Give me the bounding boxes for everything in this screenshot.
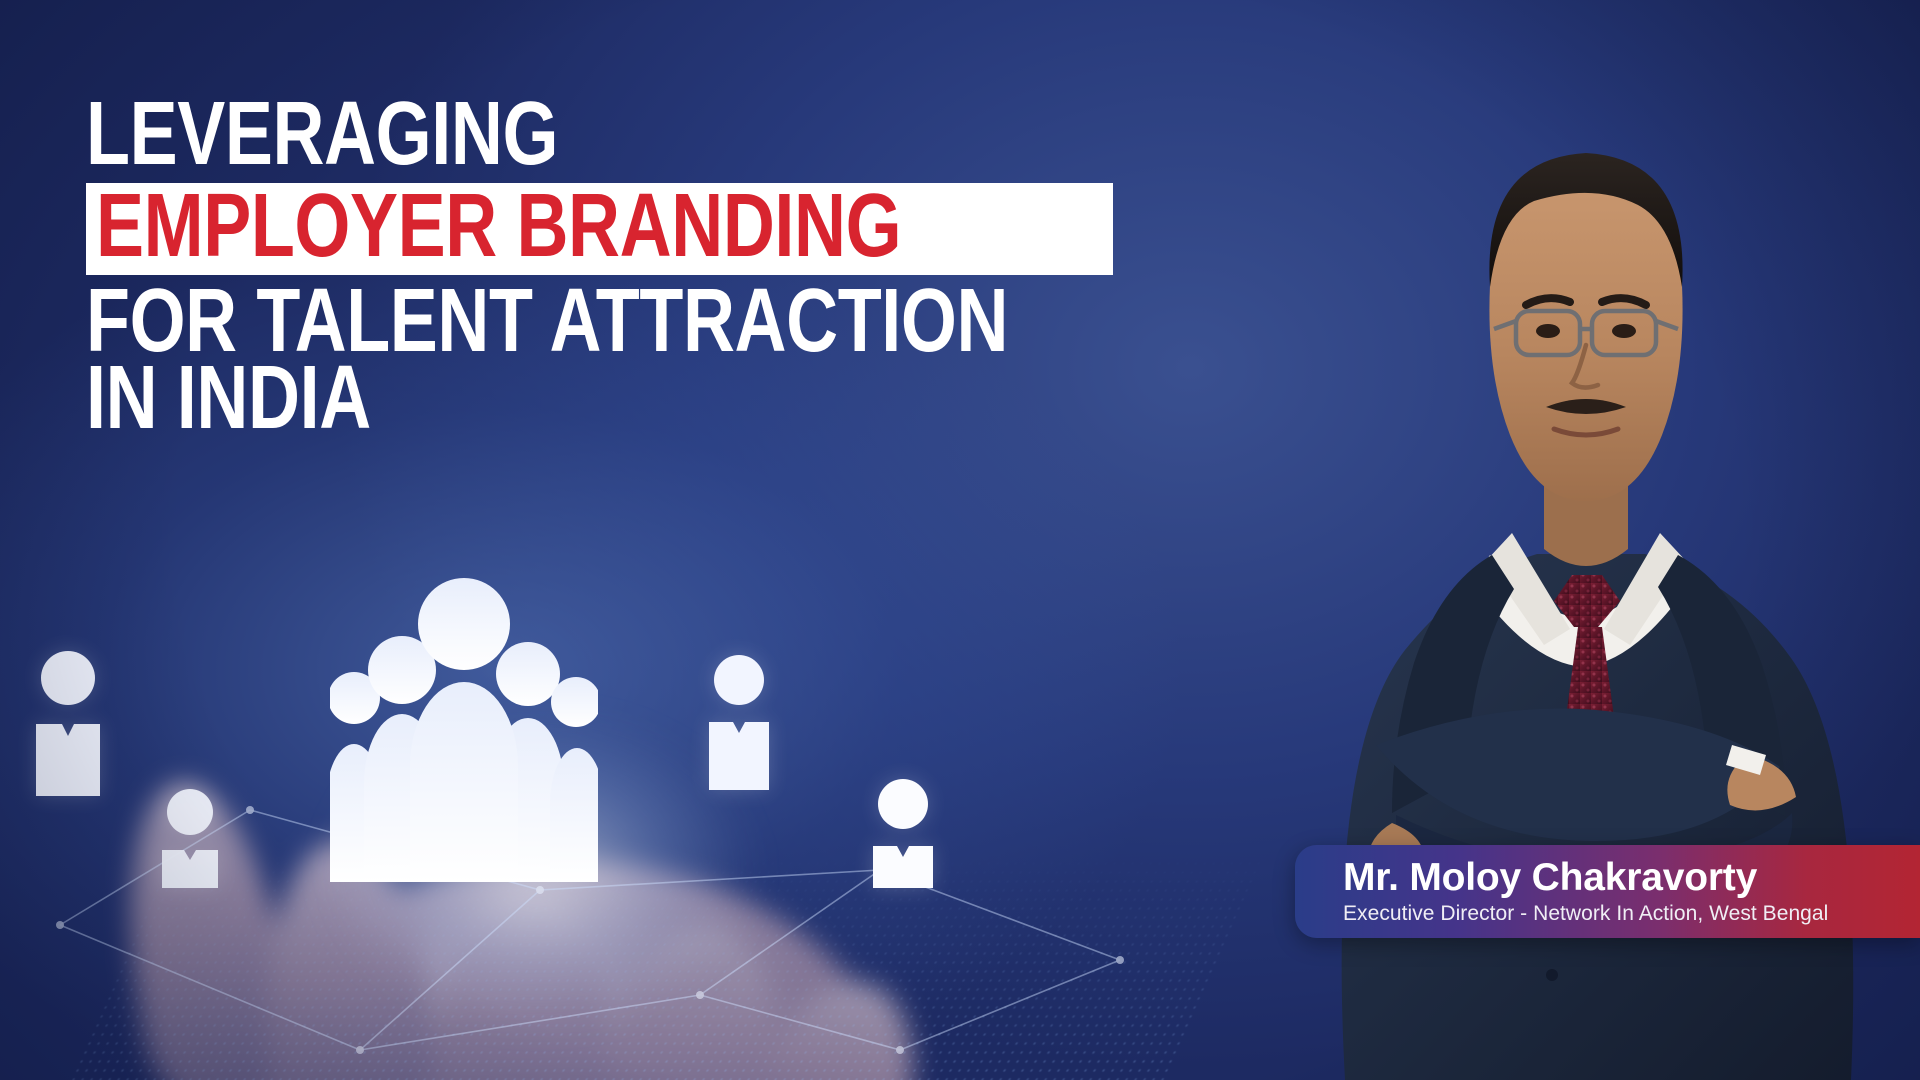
headline-line-2: EMPLOYER BRANDING: [96, 188, 901, 265]
speaker-name: Mr. Moloy Chakravorty: [1343, 857, 1920, 898]
headline-highlight-bar: EMPLOYER BRANDING: [86, 183, 1113, 274]
headline-line-4: IN INDIA: [86, 360, 790, 437]
promotional-banner: LEVERAGING EMPLOYER BRANDING FOR TALENT …: [0, 0, 1920, 1080]
headline-block: LEVERAGING EMPLOYER BRANDING FOR TALENT …: [86, 96, 966, 438]
headline-line-1: LEVERAGING: [86, 96, 790, 173]
speaker-role: Executive Director - Network In Action, …: [1343, 902, 1920, 926]
speaker-name-plate: Mr. Moloy Chakravorty Executive Director…: [1295, 845, 1920, 938]
